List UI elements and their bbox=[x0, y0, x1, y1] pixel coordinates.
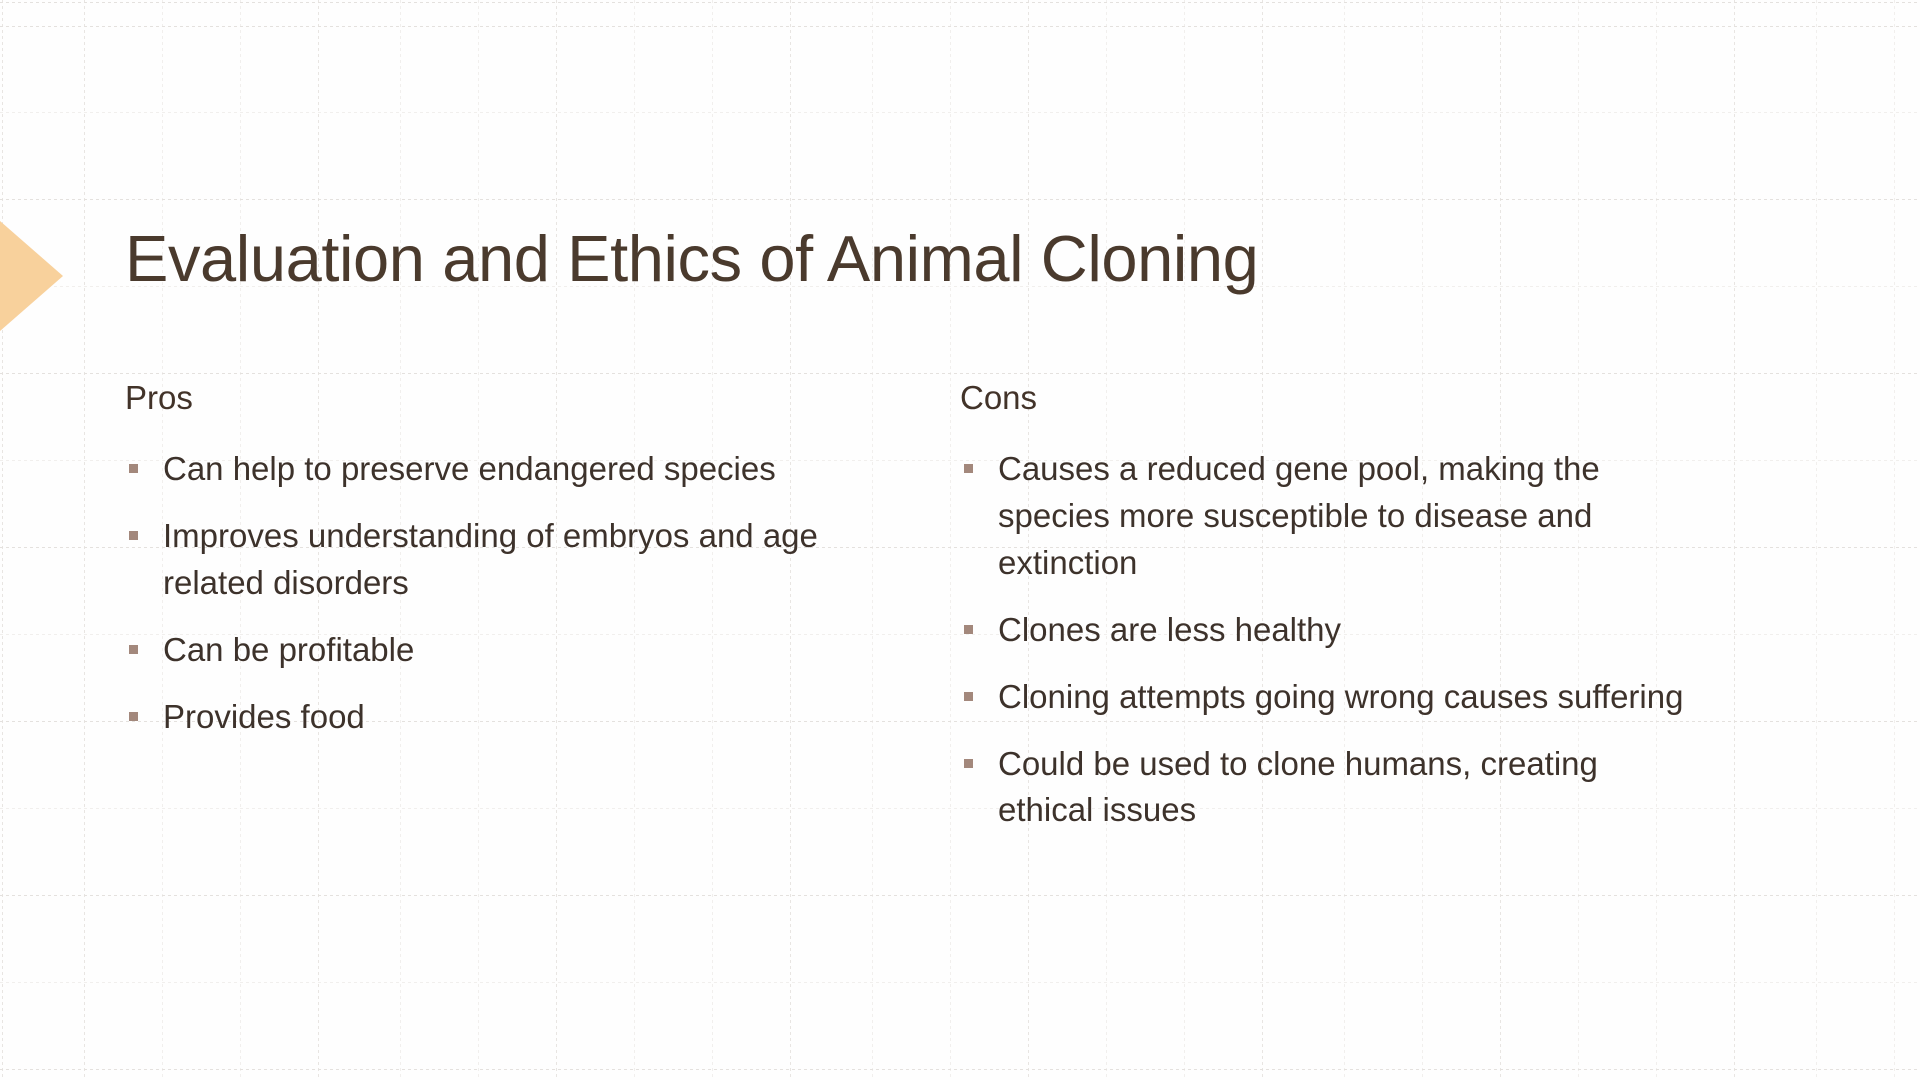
list-item-label: Can be profitable bbox=[163, 627, 840, 674]
list-item: Could be used to clone humans, creating … bbox=[960, 741, 1700, 835]
list-item: Cloning attempts going wrong causes suff… bbox=[960, 674, 1700, 721]
list-item-label: Can help to preserve endangered species bbox=[163, 446, 840, 493]
list-item-label: Could be used to clone humans, creating … bbox=[998, 741, 1700, 835]
list-item: Clones are less healthy bbox=[960, 607, 1700, 654]
list-item: Can help to preserve endangered species bbox=[125, 446, 840, 493]
list-item: Provides food bbox=[125, 694, 840, 741]
bullet-list-pros: Can help to preserve endangered species … bbox=[125, 446, 840, 740]
bullet-square-icon bbox=[129, 712, 138, 721]
column-heading-cons: Cons bbox=[960, 380, 1700, 416]
accent-triangle-icon bbox=[0, 221, 63, 331]
bullet-square-icon bbox=[964, 692, 973, 701]
column-pros: Pros Can help to preserve endangered spe… bbox=[0, 380, 840, 834]
list-item-label: Causes a reduced gene pool, making the s… bbox=[998, 446, 1700, 587]
list-item-label: Clones are less healthy bbox=[998, 607, 1700, 654]
list-item-label: Provides food bbox=[163, 694, 840, 741]
page-title: Evaluation and Ethics of Animal Cloning bbox=[125, 222, 1825, 297]
column-heading-pros: Pros bbox=[125, 380, 840, 416]
bullet-square-icon bbox=[129, 531, 138, 540]
bullet-square-icon bbox=[129, 645, 138, 654]
bullet-square-icon bbox=[964, 464, 973, 473]
list-item: Can be profitable bbox=[125, 627, 840, 674]
bullet-list-cons: Causes a reduced gene pool, making the s… bbox=[960, 446, 1700, 834]
list-item: Causes a reduced gene pool, making the s… bbox=[960, 446, 1700, 587]
list-item-label: Cloning attempts going wrong causes suff… bbox=[998, 674, 1700, 721]
list-item-label: Improves understanding of embryos and ag… bbox=[163, 513, 840, 607]
column-cons: Cons Causes a reduced gene pool, making … bbox=[840, 380, 1700, 834]
list-item: Improves understanding of embryos and ag… bbox=[125, 513, 840, 607]
bullet-square-icon bbox=[129, 464, 138, 473]
content-columns: Pros Can help to preserve endangered spe… bbox=[0, 380, 1920, 834]
slide-canvas: Evaluation and Ethics of Animal Cloning … bbox=[0, 0, 1920, 1080]
bullet-square-icon bbox=[964, 759, 973, 768]
bullet-square-icon bbox=[964, 625, 973, 634]
